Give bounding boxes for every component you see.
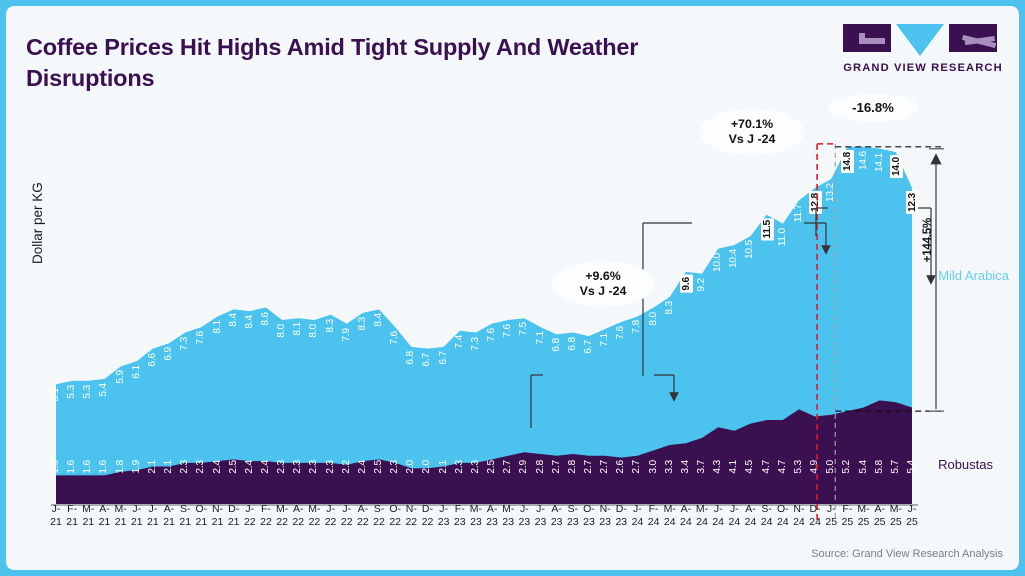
page-title: Coffee Prices Hit Highs Amid Tight Suppl… <box>26 32 686 94</box>
legend-item-robustas: Robustas <box>938 457 993 472</box>
callout-robusta-vs: Vs J -24 <box>702 132 802 148</box>
stacked-area-plot: 5.11.65.31.65.31.65.41.65.91.86.11.96.62… <box>6 98 1019 518</box>
x-axis: J-21F-21M-21A-21M-21J-21J-21A-21S-21O-21… <box>6 503 1019 539</box>
x-tick-year: 25 <box>901 516 923 529</box>
callout-total-growth: +144.5% <box>922 218 934 262</box>
annotation-lines-svg <box>6 98 1019 518</box>
callout-decline: -16.8% <box>828 94 918 122</box>
callout-arabica-vs: Vs J -24 <box>553 284 653 300</box>
x-axis-tick: J-25 <box>901 503 923 529</box>
callout-arabica-growth: +9.6% Vs J -24 <box>551 261 655 307</box>
callout-robusta-pct: +70.1% <box>702 117 802 133</box>
logo-marks <box>843 24 1003 57</box>
logo-v-triangle-icon <box>896 24 944 56</box>
chart-frame: Coffee Prices Hit Highs Amid Tight Suppl… <box>0 0 1025 576</box>
callout-robusta-growth: +70.1% Vs J -24 <box>700 109 804 155</box>
logo-r-icon <box>949 24 997 52</box>
source-note: Source: Grand View Research Analysis <box>811 548 1003 560</box>
callout-arabica-pct: +9.6% <box>553 269 653 285</box>
chart-card: Coffee Prices Hit Highs Amid Tight Suppl… <box>6 6 1019 570</box>
logo-g-icon <box>843 24 891 52</box>
x-tick-month: J- <box>901 503 923 516</box>
brand-logo: GRAND VIEW RESEARCH <box>843 24 1003 74</box>
logo-wordmark: GRAND VIEW RESEARCH <box>843 62 1003 74</box>
legend-item-mild-arabica: Mild Arabica <box>938 268 1009 283</box>
